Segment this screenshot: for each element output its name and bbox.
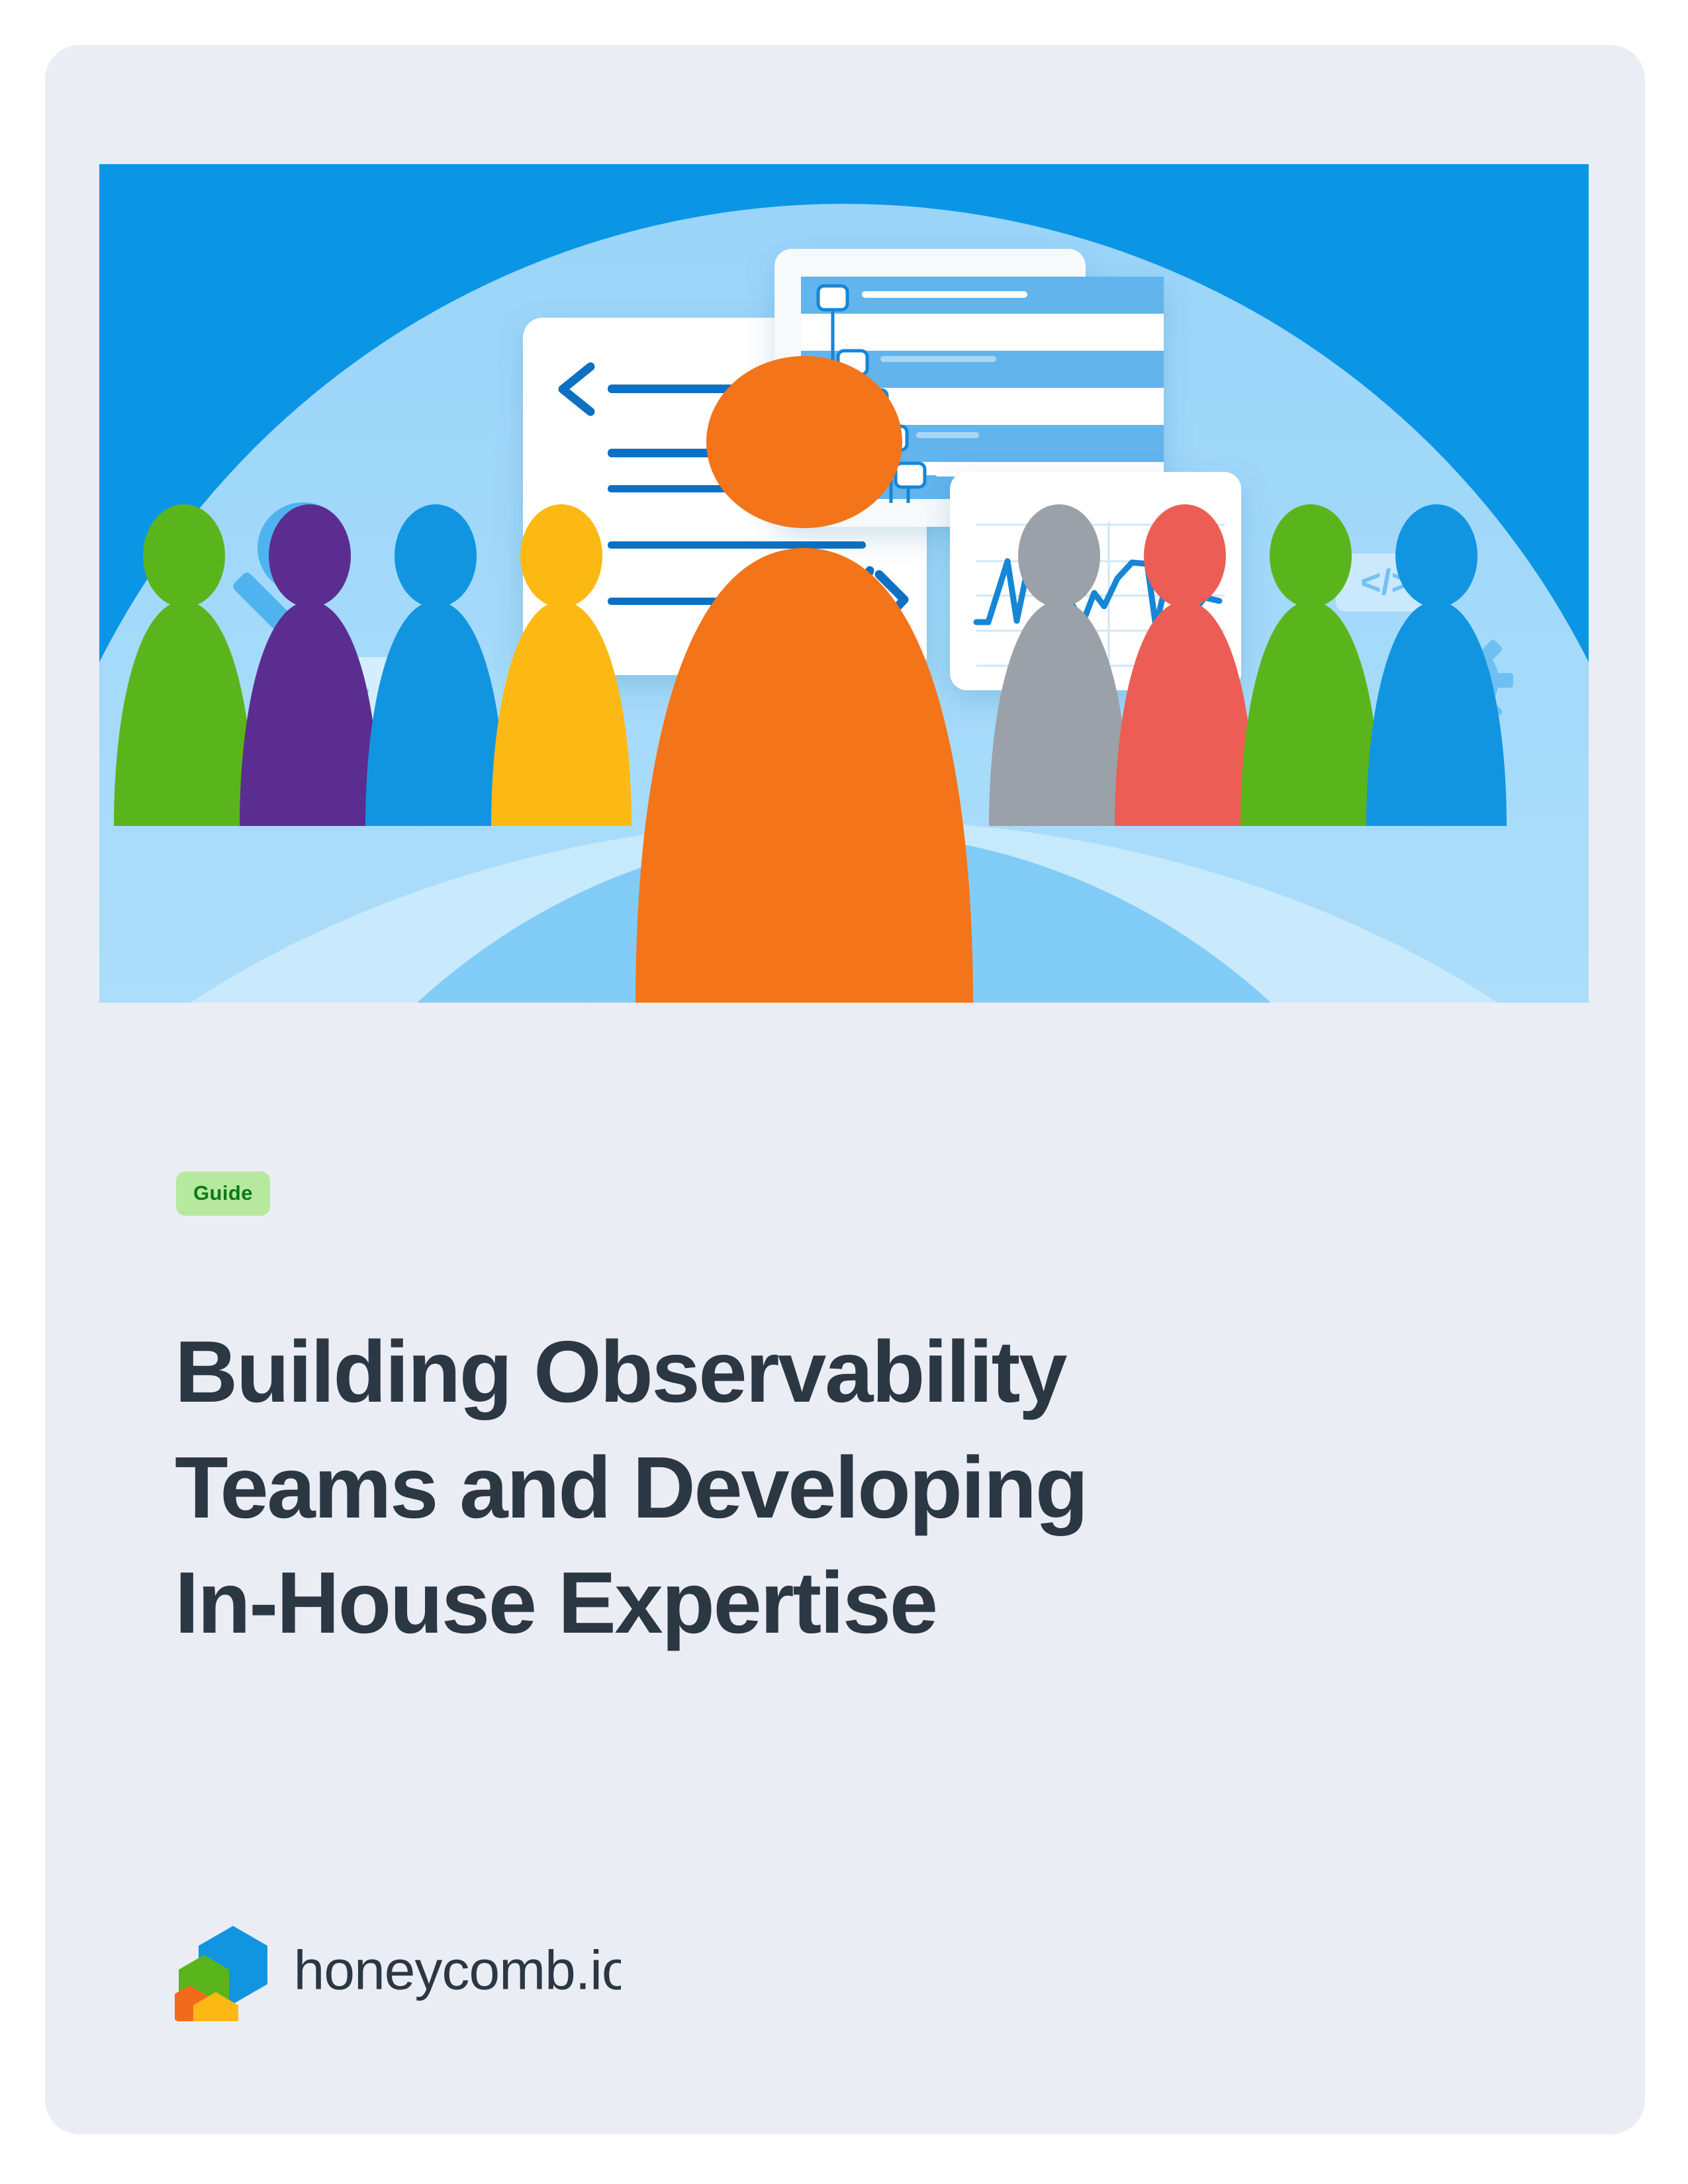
page-title-line-1: Building Observability	[175, 1314, 1578, 1430]
page-title: Building Observability Teams and Develop…	[175, 1314, 1578, 1661]
brand-logo: honeycomb.io	[175, 1923, 621, 2021]
hero-illustration: { } </>	[99, 164, 1589, 1003]
cover-page-card: { } </>	[45, 45, 1645, 2134]
status-badge: Guide	[176, 1171, 270, 1216]
svg-text:honeycomb.io: honeycomb.io	[294, 1940, 621, 2001]
document-type-badge-row: Guide	[176, 1171, 270, 1216]
page-title-line-3: In-House Expertise	[175, 1545, 1578, 1661]
page-title-line-2: Teams and Developing	[175, 1430, 1578, 1545]
brand-wordmark: honeycomb.io	[290, 1940, 621, 2004]
honeycomb-hexagon-mark	[175, 1923, 281, 2021]
